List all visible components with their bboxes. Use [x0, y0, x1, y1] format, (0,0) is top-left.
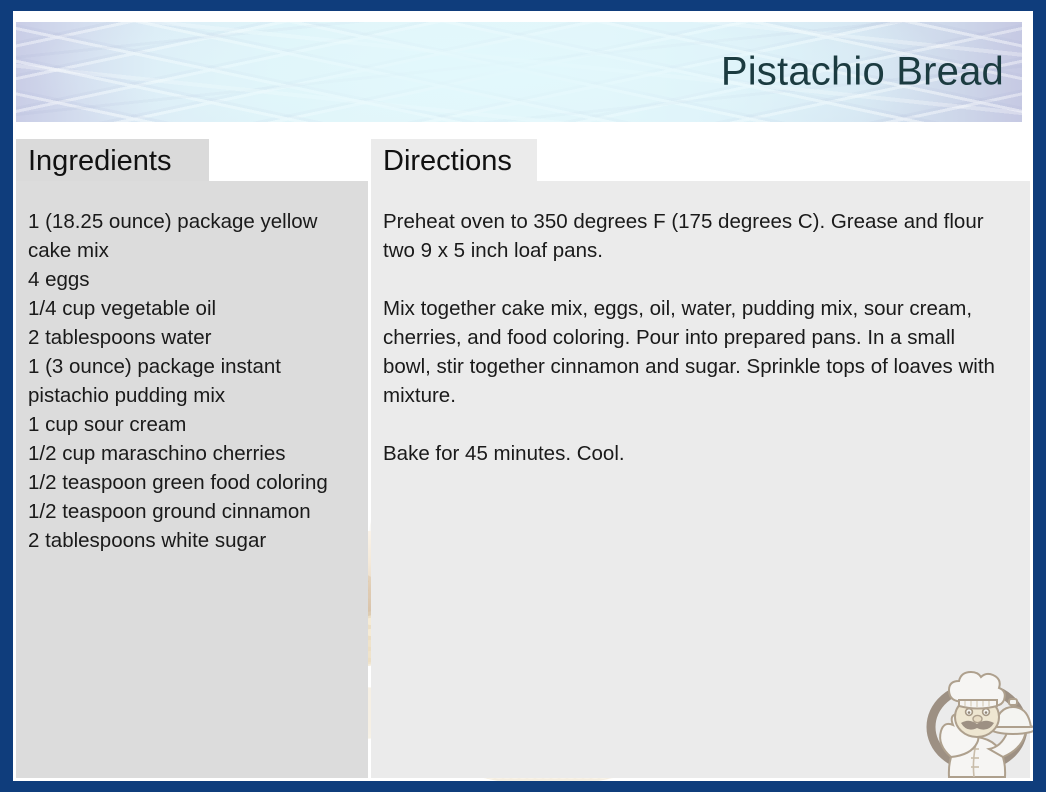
direction-paragraph: Mix together cake mix, eggs, oil, water,… — [383, 294, 1008, 410]
list-item: 2 tablespoons water — [28, 323, 354, 352]
direction-paragraph: Preheat oven to 350 degrees F (175 degre… — [383, 207, 1008, 265]
list-item: 1/2 teaspoon ground cinnamon — [28, 497, 354, 526]
ingredients-list: 1 (18.25 ounce) package yellow cake mix … — [16, 181, 368, 778]
page-title: Pistachio Bread — [721, 50, 1004, 95]
list-item: 1 (18.25 ounce) package yellow cake mix — [28, 207, 354, 265]
card-inner-surface: Pistachio Bread — [13, 11, 1033, 781]
directions-heading: Directions — [371, 139, 537, 181]
directions-panel: Directions Preheat oven to 350 degrees F… — [371, 139, 1030, 778]
list-item: 1/4 cup vegetable oil — [28, 294, 354, 323]
list-item: 2 tablespoons white sugar — [28, 526, 354, 555]
list-item: 1/2 teaspoon green food coloring — [28, 468, 354, 497]
direction-paragraph: Bake for 45 minutes. Cool. — [383, 439, 1008, 468]
list-item: 1 cup sour cream — [28, 410, 354, 439]
list-item: 4 eggs — [28, 265, 354, 294]
directions-text: Preheat oven to 350 degrees F (175 degre… — [371, 181, 1030, 778]
recipe-card: Pistachio Bread — [0, 0, 1046, 792]
list-item: 1/2 cup maraschino cherries — [28, 439, 354, 468]
title-banner: Pistachio Bread — [16, 22, 1022, 122]
list-item: 1 (3 ounce) package instant pistachio pu… — [28, 352, 354, 410]
ingredients-heading: Ingredients — [16, 139, 209, 181]
ingredients-panel: Ingredients 1 (18.25 ounce) package yell… — [16, 139, 368, 778]
